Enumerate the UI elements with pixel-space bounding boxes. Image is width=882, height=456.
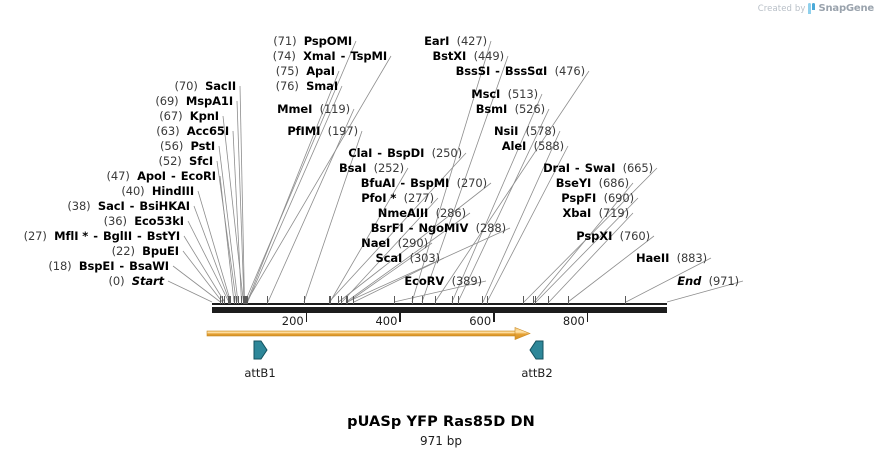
feature-label-attB1: attB1 [244, 366, 275, 380]
cut-position: (719) [599, 206, 629, 220]
enzyme-name: Acc65I [187, 124, 229, 138]
restriction-site-label[interactable]: (69) MspA1I [0, 95, 233, 107]
enzyme-name: KpnI [190, 109, 219, 123]
enzyme-name: EcoRI [181, 169, 216, 183]
cut-site-tick [568, 296, 569, 304]
enzyme-name: HaeII [636, 251, 669, 265]
feature-arrow-attB2[interactable] [529, 338, 545, 362]
enzyme-name: BsaWI [129, 259, 169, 273]
plasmid-size-label: 971 bp [0, 434, 882, 448]
enzyme-name: PspFI [561, 191, 596, 205]
cut-position: (40) [121, 184, 144, 198]
cut-site-tick [220, 296, 221, 304]
enzyme-name: XbaI [563, 206, 592, 220]
enzyme-name: BspEI [79, 259, 114, 273]
cut-position: (56) [160, 139, 183, 153]
restriction-site-label[interactable]: (67) KpnI [0, 110, 219, 122]
enzyme-name: End [677, 274, 701, 288]
enzyme-name: DraI [543, 161, 570, 175]
enzyme-name: SacII [205, 79, 236, 93]
watermark-brand: SnapGene [818, 3, 874, 14]
enzyme-name: BsmI [476, 102, 507, 116]
enzyme-name: BssSαI [505, 64, 547, 78]
enzyme-separator: - [166, 169, 181, 183]
cut-site-tick [535, 296, 536, 304]
cut-position: (22) [112, 244, 135, 258]
enzyme-separator: - [570, 161, 585, 175]
enzyme-name: BseYI [556, 176, 592, 190]
feature-arrow-shape [254, 341, 267, 359]
enzyme-name: SacI [98, 199, 125, 213]
enzyme-separator: - [114, 259, 129, 273]
cut-position: (526) [515, 102, 545, 116]
page-title: pUASp YFP Ras85D DN [0, 414, 882, 430]
watermark-prefix: Created by [758, 4, 806, 14]
cut-position: (476) [555, 64, 585, 78]
cut-site-tick [330, 296, 331, 304]
cut-position: (67) [159, 109, 182, 123]
enzyme-name: Eco53kI [134, 214, 184, 228]
cut-position: (70) [175, 79, 198, 93]
sequence-backbone [212, 306, 667, 313]
cut-position: (18) [48, 259, 71, 273]
cut-position: (27) [24, 229, 47, 243]
enzyme-name: PspXI [576, 229, 612, 243]
enzyme-name: PstI [191, 139, 215, 153]
cut-position: (513) [508, 87, 538, 101]
cut-site-tick [625, 296, 626, 304]
cut-site-tick [338, 296, 339, 304]
cut-position: (36) [104, 214, 127, 228]
enzyme-separator: - [125, 199, 140, 213]
enzyme-name: BpuEI [142, 244, 179, 258]
restriction-site-label[interactable]: BssSI - BssSαI (476) [0, 65, 585, 77]
restriction-site-label[interactable]: (63) Acc65I [0, 125, 229, 137]
restriction-site-label[interactable]: (0) Start [0, 275, 164, 287]
cut-position: (47) [107, 169, 130, 183]
cut-position: (427) [457, 34, 487, 48]
snapgene-watermark: Created by SnapGene [758, 3, 874, 14]
cut-site-tick [224, 296, 225, 304]
cut-position: (760) [620, 229, 650, 243]
cut-site-tick [347, 296, 348, 304]
cut-position: (971) [709, 274, 739, 288]
cut-site-tick [412, 296, 413, 304]
enzyme-name: NsiI [494, 124, 518, 138]
cut-site-tick [458, 296, 459, 304]
restriction-site-label[interactable]: (52) SfcI [0, 155, 213, 167]
cut-site-tick [241, 296, 242, 304]
cut-position: (52) [158, 154, 181, 168]
enzyme-name: ApoI [137, 169, 166, 183]
cut-site-tick [548, 296, 549, 304]
enzyme-name: MspA1I [186, 94, 233, 108]
cut-site-tick [435, 296, 436, 304]
restriction-site-label[interactable]: (70) SacII [0, 80, 236, 92]
restriction-site-label[interactable]: (22) BpuEI [0, 245, 179, 257]
ruler-tick [399, 313, 401, 322]
enzyme-name: BsiHKAI [139, 199, 190, 213]
snapgene-linear-map: Created by SnapGene (71) PspOMI(74) XmaI… [0, 0, 882, 456]
enzyme-name: BstYI [147, 229, 180, 243]
enzyme-separator: - [490, 64, 505, 78]
cut-position: (449) [474, 49, 504, 63]
backbone-line-thin [212, 303, 667, 305]
cut-site-tick [422, 296, 423, 304]
restriction-site-label[interactable]: (18) BspEI - BsaWI [0, 260, 169, 272]
cut-position: (883) [677, 251, 707, 265]
cut-site-tick [341, 296, 342, 304]
cut-site-tick [238, 296, 239, 304]
cut-site-tick [353, 296, 354, 304]
restriction-site-label[interactable]: (27) MflI * - BglII - BstYI [0, 230, 180, 242]
cut-site-tick [304, 296, 305, 304]
ruler-tick [306, 313, 308, 322]
restriction-site-label[interactable]: (47) ApoI - EcoRI [0, 170, 216, 182]
enzyme-name: BglII [103, 229, 132, 243]
cut-position: (686) [599, 176, 629, 190]
cut-site-tick [533, 296, 534, 304]
enzyme-name: BssSI [456, 64, 491, 78]
cut-site-tick [482, 296, 483, 304]
enzyme-name: MscI [471, 87, 500, 101]
cut-position: (69) [155, 94, 178, 108]
restriction-site-label[interactable]: (40) HindIII [0, 185, 194, 197]
feature-arrow-attB1[interactable] [252, 338, 268, 362]
leader-line [568, 236, 654, 302]
ruler-tick-label: 800 [563, 314, 587, 328]
snapgene-logo-icon [808, 3, 815, 14]
enzyme-separator: - [132, 229, 147, 243]
enzyme-name: SfcI [189, 154, 213, 168]
cut-site-tick [236, 296, 237, 304]
cut-site-tick [222, 296, 223, 304]
cut-position: (588) [534, 139, 564, 153]
cut-site-tick [234, 296, 235, 304]
cut-position: (665) [623, 161, 653, 175]
enzyme-separator: - [88, 229, 103, 243]
restriction-site-label[interactable]: (56) PstI [0, 140, 215, 152]
cut-site-tick [267, 296, 268, 304]
enzyme-name: BstXI [432, 49, 466, 63]
feature-label-attB2: attB2 [521, 366, 552, 380]
restriction-site-label[interactable]: EarI (427) [0, 35, 487, 47]
cut-site-tick [487, 296, 488, 304]
cut-position: (63) [156, 124, 179, 138]
ruler-tick [493, 313, 495, 322]
ruler-tick [587, 313, 589, 322]
cut-position: (0) [108, 274, 124, 288]
cut-position: (578) [526, 124, 556, 138]
cut-site-tick [523, 296, 524, 304]
enzyme-name: Start [132, 274, 164, 288]
enzyme-name: HindIII [152, 184, 194, 198]
restriction-site-label[interactable]: (38) SacI - BsiHKAI [0, 200, 190, 212]
cut-site-tick [247, 296, 248, 304]
enzyme-name: EarI [424, 34, 449, 48]
enzyme-name: MflI * [54, 229, 88, 243]
restriction-site-label[interactable]: (36) Eco53kI [0, 215, 184, 227]
feature-arrow-shape [530, 341, 543, 359]
title-block: pUASp YFP Ras85D DN 971 bp [0, 414, 882, 448]
cut-site-tick [230, 296, 231, 304]
cut-site-tick [394, 296, 395, 304]
enzyme-name: AleI [502, 139, 527, 153]
cut-position: (38) [67, 199, 90, 213]
enzyme-name: SwaI [585, 161, 616, 175]
cut-position: (690) [604, 191, 634, 205]
restriction-site-label[interactable]: BstXI (449) [0, 50, 504, 62]
cut-site-tick [452, 296, 453, 304]
